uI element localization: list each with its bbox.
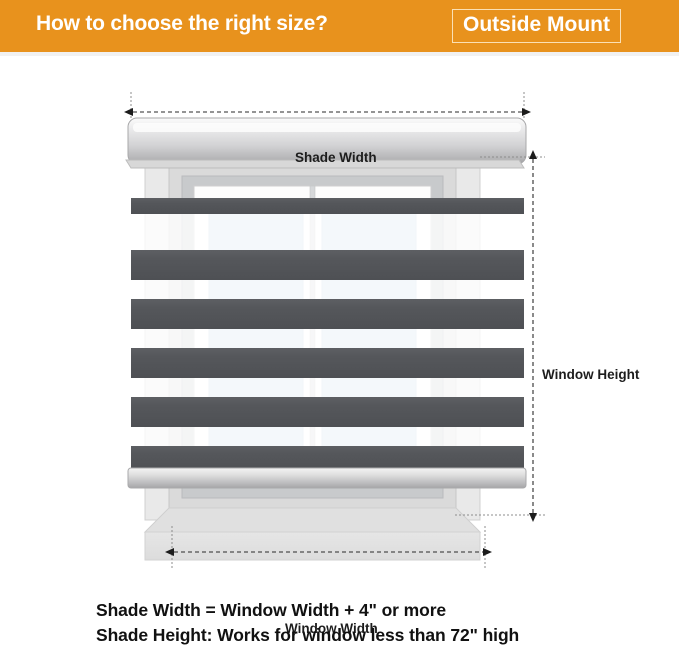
shade-band	[131, 348, 524, 378]
size-guide-page: How to choose the right size? Outside Mo…	[0, 0, 679, 660]
note-line: Shade Width = Window Width + 4" or more	[96, 600, 679, 621]
shade-band	[131, 299, 524, 329]
note-line: Shade Height: Works for window less than…	[96, 625, 679, 646]
measuring-diagram: Shade Width Window Width Window Height	[0, 56, 679, 596]
shade-band	[131, 397, 524, 427]
shade-band	[131, 250, 524, 280]
zebra-shade-fabric	[131, 198, 524, 472]
sizing-notes: Shade Width = Window Width + 4" or more …	[0, 600, 679, 650]
shade-width-dimension	[131, 92, 524, 118]
shade-band	[131, 198, 524, 214]
page-title: How to choose the right size?	[36, 12, 328, 36]
header-bar: How to choose the right size? Outside Mo…	[0, 0, 679, 52]
shade-bottom-rail	[128, 468, 526, 488]
window-height-label: Window Height	[542, 367, 639, 382]
shade-width-label: Shade Width	[295, 150, 377, 165]
mount-type-badge: Outside Mount	[452, 9, 621, 43]
